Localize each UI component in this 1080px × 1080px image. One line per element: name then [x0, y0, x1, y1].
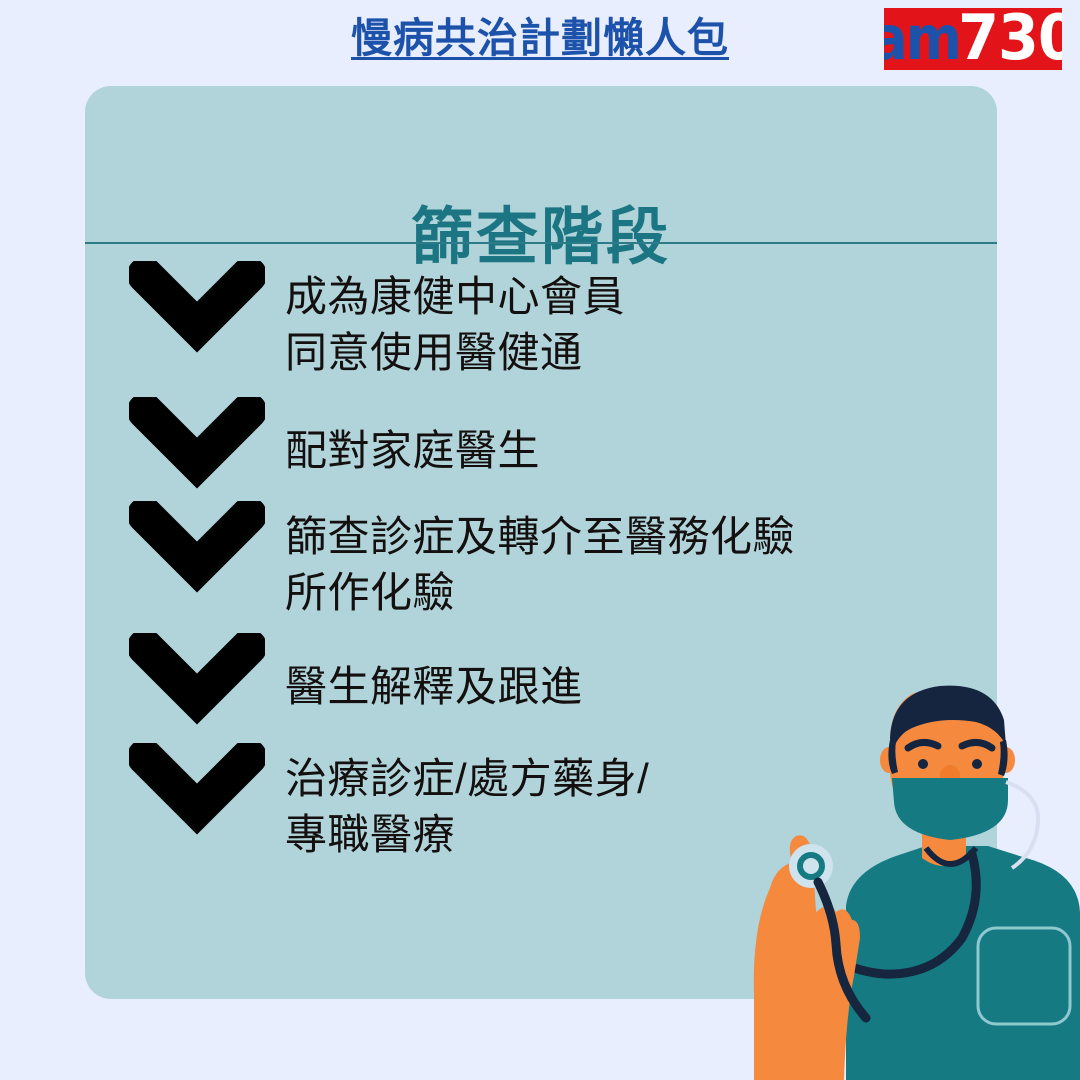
chevron-down-icon	[129, 633, 265, 725]
list-item-label: 篩查診症及轉介至醫務化驗 所作化驗	[285, 501, 795, 621]
list-item: 篩查診症及轉介至醫務化驗 所作化驗	[85, 501, 997, 621]
list-item: 成為康健中心會員 同意使用醫健通	[85, 261, 997, 381]
chevron-down-icon	[129, 743, 265, 835]
list-item-label: 配對家庭醫生	[285, 397, 540, 479]
list-item: 配對家庭醫生	[85, 397, 997, 489]
list-item: 治療診症/處方藥身/ 專職醫療	[85, 743, 997, 863]
steps-list: 成為康健中心會員 同意使用醫健通 配對家庭醫生 篩查診症及轉介至醫務化驗 所作化…	[85, 261, 997, 875]
chevron-down-icon	[129, 397, 265, 489]
info-card: 篩查階段 成為康健中心會員 同意使用醫健通 配對家庭醫生 篩查診症及轉介至醫務化…	[85, 86, 997, 999]
list-item-label: 成為康健中心會員 同意使用醫健通	[285, 261, 625, 381]
mask-strap	[1006, 782, 1038, 868]
logo-text-am: am	[884, 9, 960, 69]
sideburn-right	[998, 740, 1008, 776]
list-item-label: 醫生解釋及跟進	[285, 633, 583, 715]
chevron-down-icon	[129, 261, 265, 353]
card-divider	[85, 242, 997, 244]
chevron-down-icon	[129, 501, 265, 593]
list-item-label: 治療診症/處方藥身/ 專職醫療	[285, 743, 649, 863]
list-item: 醫生解釋及跟進	[85, 633, 997, 725]
logo-text-730: 730	[958, 8, 1062, 70]
ear-right	[997, 747, 1015, 773]
header-bar: 慢病共治計劃懶人包 am 730	[0, 0, 1080, 86]
am730-logo: am 730	[884, 8, 1062, 70]
